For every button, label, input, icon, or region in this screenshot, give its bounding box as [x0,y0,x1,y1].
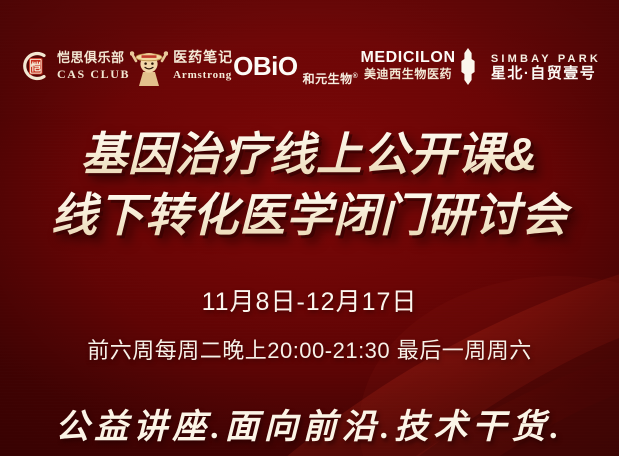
sponsor-logo-medicilon: MEDICILON 美迪西生物医药 [358,42,458,90]
sponsor-logo-armstrong: 医药笔记 Armstrong [130,42,233,90]
armstrong-en-name: Armstrong [173,69,232,81]
simbay-text-block: SIMBAY PARK 星北·自贸壹号 [491,50,601,82]
armstrong-cn-name: 医药笔记 [173,49,233,65]
cas-club-cn-name: 恺思俱乐部 [57,50,125,65]
medicilon-text-block: MEDICILON 美迪西生物医药 [358,50,458,82]
straw-hat-character-icon [130,45,168,87]
event-date-range: 11月8日-12月17日 [0,282,619,318]
obio-cn-name: 和元生物® [303,70,359,87]
poster-tagline: 公益讲座.面向前沿.技术干货. [0,399,619,448]
sponsor-logo-strip: 恺 恺思俱乐部 CAS CLUB [18,38,601,94]
event-schedule-detail: 前六周每周二晚上20:00-21:30 最后一周周六 [0,333,619,365]
obio-trademark: ® [353,73,359,80]
sponsor-logo-obio: OBiO 和元生物® [233,42,358,90]
medicilon-wordmark-icon: MEDICILON [360,49,455,66]
simbay-tower-icon [458,46,478,86]
headline-line-1: 基因治疗线上公开课& [0,124,619,185]
svg-text:恺: 恺 [31,61,41,74]
cas-club-text-block: 恺思俱乐部 CAS CLUB [57,50,130,82]
simbay-en-name: SIMBAY PARK [491,53,601,65]
armstrong-text-block: 医药笔记 Armstrong [173,50,233,82]
headline-line-2: 线下转化医学闭门研讨会 [0,185,619,246]
event-poster: 恺 恺思俱乐部 CAS CLUB [0,0,619,456]
sponsor-logo-simbay-park: SIMBAY PARK 星北·自贸壹号 [458,42,601,90]
c-monogram-seal-icon: 恺 [18,49,52,83]
obio-cn-text: 和元生物 [303,72,353,86]
sponsor-logo-cas-club: 恺 恺思俱乐部 CAS CLUB [18,42,130,90]
cas-club-en-name: CAS CLUB [57,67,130,81]
poster-headline: 基因治疗线上公开课& 线下转化医学闭门研讨会 [0,124,619,245]
simbay-cn-name: 星北·自贸壹号 [491,65,597,82]
obio-wordmark-icon: OBiO [233,53,297,79]
medicilon-cn-name: 美迪西生物医药 [364,67,452,81]
